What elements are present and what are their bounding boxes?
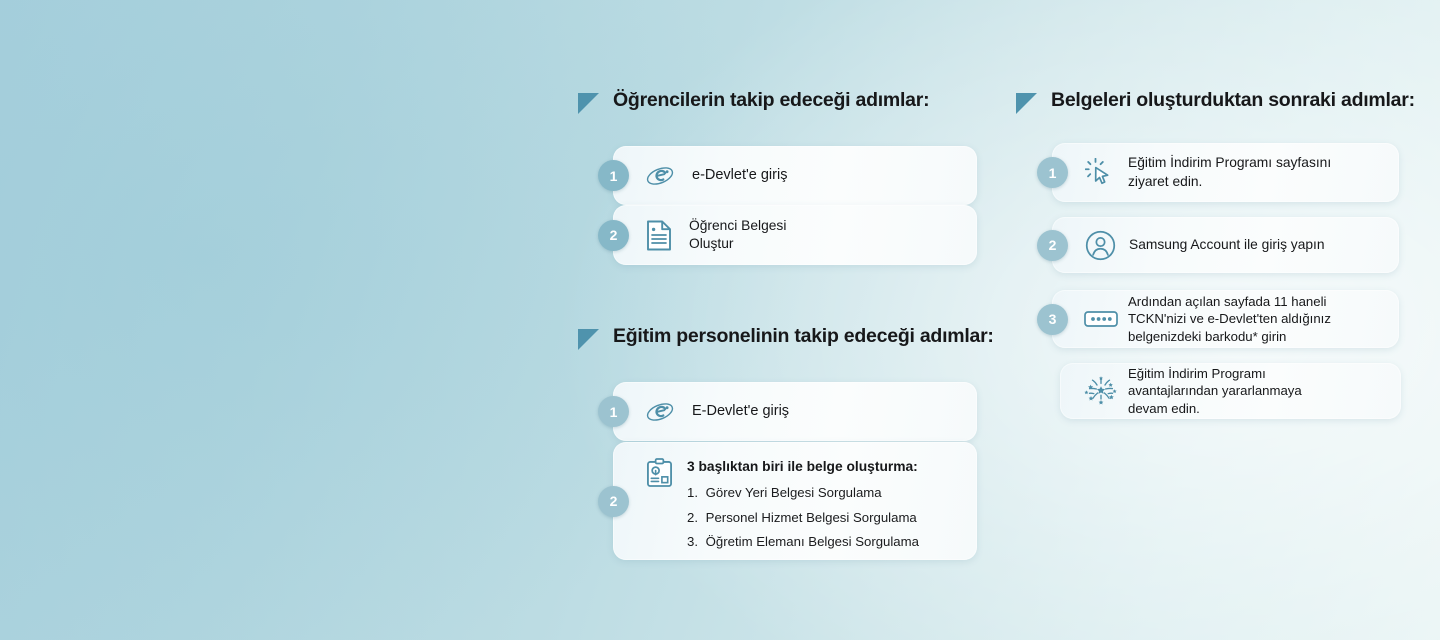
list-item-number: 3. — [687, 530, 702, 554]
user-account-icon — [1084, 229, 1116, 261]
step-card-line: avantajlarından yararlanmaya — [1128, 383, 1302, 398]
list-item[interactable]: 3. Öğretim Elemanı Belgesi Sorgulama — [687, 530, 919, 554]
id-clipboard-icon — [645, 458, 673, 488]
step-card[interactable]: e-Devlet'e giriş — [613, 146, 977, 205]
step-card-line: Eğitim İndirim Programı sayfasını — [1128, 155, 1331, 170]
section-title: Eğitim personelinin takip edeceği adımla… — [613, 324, 994, 348]
step-card-line: Öğrenci Belgesi — [689, 218, 786, 233]
triangle-marker-icon — [578, 329, 599, 350]
step-row[interactable]: 2 Samsung Account ile giriş yapın — [1037, 217, 1399, 273]
step-number-badge: 1 — [1037, 157, 1068, 188]
document-icon — [645, 219, 673, 251]
step-card-line: Eğitim İndirim Programı — [1128, 366, 1266, 381]
e-devlet-logo-icon — [645, 397, 675, 427]
step-row[interactable]: 3 Ardından açılan sayfada 11 haneli TCKN… — [1037, 290, 1399, 348]
step-card-content: 3 başlıktan biri ile belge oluşturma: 1.… — [687, 456, 919, 554]
step-row[interactable]: 2 Öğrenci Belgesi Oluştur — [598, 205, 977, 265]
step-row[interactable]: 2 3 başlıktan biri ile belge oluşturma: … — [598, 442, 977, 560]
step-card[interactable]: Ardından açılan sayfada 11 haneli TCKN'n… — [1052, 290, 1399, 348]
list-item[interactable]: 1. Görev Yeri Belgesi Sorgulama — [687, 481, 919, 505]
step-card[interactable]: Eğitim İndirim Programı avantajlarından … — [1060, 363, 1401, 419]
step-card-line: TCKN'nizi ve e-Devlet'ten aldığınız — [1128, 311, 1331, 326]
step-card-label: Eğitim İndirim Programı sayfasını ziyare… — [1128, 154, 1331, 190]
section-heading-education-staff: Eğitim personelinin takip edeceği adımla… — [578, 324, 994, 350]
step-row[interactable]: 1 e-Devlet'e giriş — [598, 146, 977, 205]
list-heading: 3 başlıktan biri ile belge oluşturma: — [687, 459, 918, 474]
step-card[interactable]: Öğrenci Belgesi Oluştur — [613, 205, 977, 265]
step-number-badge: 2 — [1037, 230, 1068, 261]
step-card-label: Eğitim İndirim Programı avantajlarından … — [1128, 365, 1302, 417]
step-card-line: Ardından açılan sayfada 11 haneli — [1128, 294, 1326, 309]
step-card-line: ziyaret edin. — [1128, 174, 1202, 189]
step-row[interactable]: 1 Eğitim İndirim Programı sayfasını ziya… — [1037, 143, 1399, 202]
step-card[interactable]: Eğitim İndirim Programı sayfasını ziyare… — [1052, 143, 1399, 202]
list-item-label: Öğretim Elemanı Belgesi Sorgulama — [706, 534, 919, 549]
step-card-label: Ardından açılan sayfada 11 haneli TCKN'n… — [1128, 293, 1331, 345]
step-card-label: Samsung Account ile giriş yapın — [1129, 236, 1325, 254]
step-card-line: devam edin. — [1128, 401, 1200, 416]
section-heading-students: Öğrencilerin takip edeceği adımlar: — [578, 88, 929, 114]
list-item-label: Görev Yeri Belgesi Sorgulama — [706, 485, 882, 500]
triangle-marker-icon — [578, 93, 599, 114]
triangle-marker-icon — [1016, 93, 1037, 114]
page-title: Öğrencilerin takip edeceği adımlar: — [613, 88, 929, 112]
step-number-badge: 2 — [598, 220, 629, 251]
section-heading-after-documents: Belgeleri oluşturduktan sonraki adımlar: — [1016, 88, 1415, 114]
sparkle-burst-icon — [1084, 374, 1118, 408]
document-options-list: 1. Görev Yeri Belgesi Sorgulama 2. Perso… — [687, 481, 919, 554]
e-devlet-logo-icon — [645, 161, 675, 191]
step-row[interactable]: Eğitim İndirim Programı avantajlarından … — [1060, 363, 1401, 419]
list-item-number: 1. — [687, 481, 702, 505]
section-title: Belgeleri oluşturduktan sonraki adımlar: — [1051, 88, 1415, 112]
infographic-stage: Öğrencilerin takip edeceği adımlar: 1 e-… — [0, 0, 1440, 640]
step-row[interactable]: 1 E-Devlet'e giriş — [598, 382, 977, 441]
pin-entry-icon — [1084, 310, 1118, 328]
step-card[interactable]: Samsung Account ile giriş yapın — [1052, 217, 1399, 273]
list-item-number: 2. — [687, 506, 702, 530]
step-card[interactable]: 3 başlıktan biri ile belge oluşturma: 1.… — [613, 442, 977, 560]
step-card-label: E-Devlet'e giriş — [692, 402, 789, 421]
list-item[interactable]: 2. Personel Hizmet Belgesi Sorgulama — [687, 506, 919, 530]
step-number-badge: 2 — [598, 486, 629, 517]
step-number-badge: 1 — [598, 396, 629, 427]
step-card-line: belgenizdeki barkodu* girin — [1128, 329, 1286, 344]
step-number-badge: 1 — [598, 160, 629, 191]
cursor-click-icon — [1084, 157, 1116, 189]
step-card[interactable]: E-Devlet'e giriş — [613, 382, 977, 441]
step-card-label: e-Devlet'e giriş — [692, 166, 787, 185]
step-number-badge: 3 — [1037, 304, 1068, 335]
step-card-line: Oluştur — [689, 236, 733, 251]
step-card-label: Öğrenci Belgesi Oluştur — [689, 217, 786, 253]
list-item-label: Personel Hizmet Belgesi Sorgulama — [706, 510, 917, 525]
